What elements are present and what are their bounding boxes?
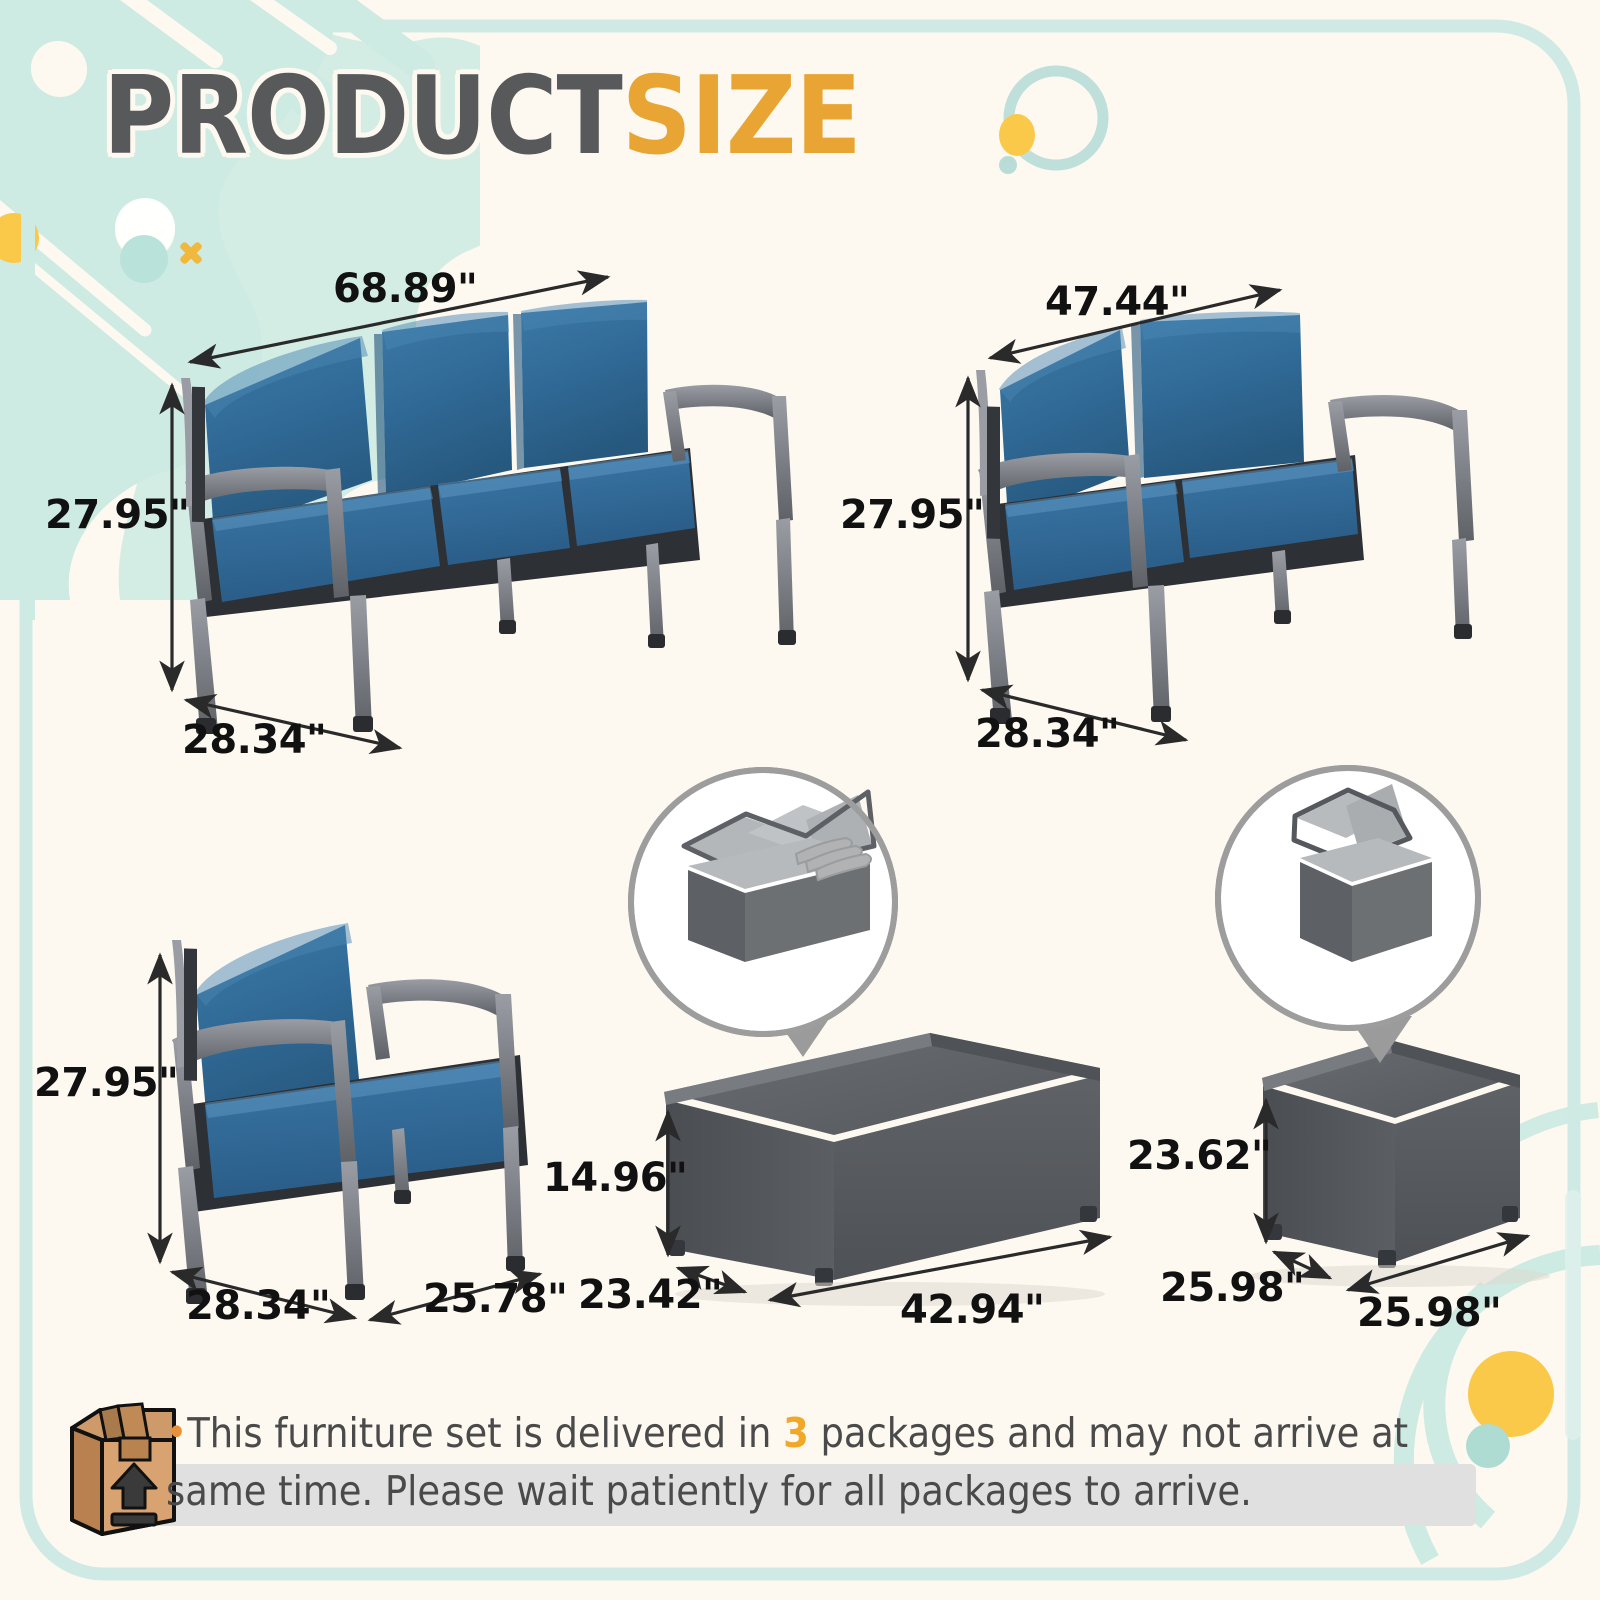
delivery-note: •This furniture set is delivered in 3 pa… bbox=[166, 1404, 1486, 1520]
product-storage-coffee-table bbox=[664, 1033, 1105, 1306]
dim-loveseat-height: 27.95" bbox=[840, 492, 984, 538]
dim-side-width: 25.98" bbox=[1357, 1290, 1501, 1336]
dim-loveseat-width: 47.44" bbox=[1045, 279, 1189, 325]
dim-table-width: 42.94" bbox=[900, 1287, 1044, 1333]
dim-sofa-width: 68.89" bbox=[333, 266, 477, 312]
side-table-dimension-arrows bbox=[1266, 1100, 1528, 1290]
loveseat-dimension-arrows bbox=[968, 290, 1280, 740]
inset-pointer-arrow bbox=[770, 1010, 835, 1057]
inset-side-table-open bbox=[1218, 768, 1478, 1063]
dim-side-height: 23.62" bbox=[1127, 1133, 1271, 1179]
armchair-dimension-arrows bbox=[160, 955, 540, 1320]
dim-sofa-depth: 28.34" bbox=[182, 717, 326, 763]
title-word-size: SIZE bbox=[622, 54, 861, 179]
product-3-seat-sofa bbox=[181, 300, 796, 734]
dim-sofa-height: 27.95" bbox=[45, 492, 189, 538]
note-package-count: 3 bbox=[783, 1409, 809, 1457]
page-title: PRODUCTSIZE bbox=[103, 62, 861, 171]
product-illustrations bbox=[0, 0, 1600, 1600]
dim-side-depth: 25.98" bbox=[1160, 1265, 1304, 1311]
product-storage-side-table bbox=[1250, 1040, 1550, 1287]
inset-pointer-arrow-2 bbox=[1348, 1016, 1412, 1063]
dim-chair-depth: 28.34" bbox=[186, 1283, 330, 1329]
dim-table-depth: 23.42" bbox=[578, 1272, 722, 1318]
dim-chair-height: 27.95" bbox=[34, 1060, 178, 1106]
title-word-product: PRODUCT bbox=[103, 54, 622, 179]
sofa-dimension-arrows bbox=[172, 277, 608, 748]
dim-loveseat-depth: 28.34" bbox=[975, 711, 1119, 757]
product-armchair bbox=[172, 923, 528, 1304]
dim-table-height: 14.96" bbox=[543, 1155, 687, 1201]
note-text-before: This furniture set is delivered in bbox=[187, 1409, 783, 1457]
note-bullet-icon: • bbox=[166, 1410, 187, 1456]
coffee-table-dimension-arrows bbox=[668, 1112, 1110, 1300]
inset-coffee-table-open bbox=[631, 770, 895, 1057]
dim-chair-width: 25.78" bbox=[423, 1276, 567, 1322]
product-loveseat bbox=[976, 312, 1474, 724]
